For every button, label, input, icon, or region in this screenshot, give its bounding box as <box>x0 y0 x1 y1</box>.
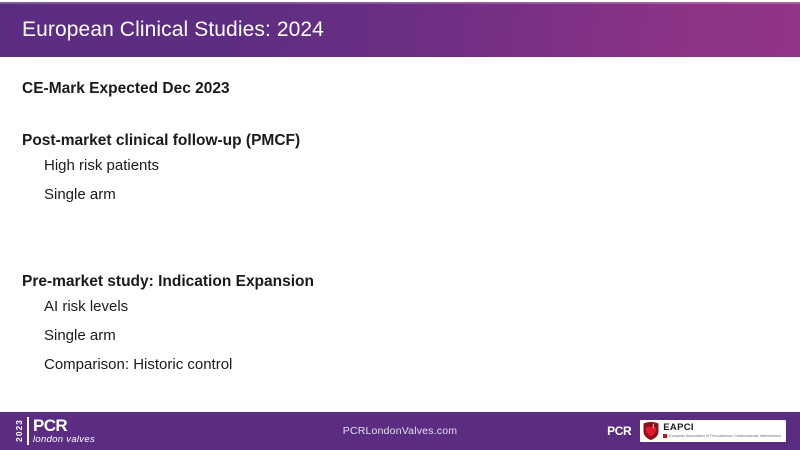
content-block-pmcf: Post-market clinical follow-up (PMCF) Hi… <box>0 131 760 209</box>
eapci-name: EAPCI <box>663 423 781 433</box>
heading-ce-mark: CE-Mark Expected Dec 2023 <box>22 79 760 99</box>
eapci-tagline: European Association of Percutaneous Car… <box>669 433 781 439</box>
list-item: Single arm <box>44 321 760 350</box>
eapci-square-icon <box>663 434 667 438</box>
heart-shield-icon <box>643 422 659 440</box>
slide-title-bar: European Clinical Studies: 2024 <box>0 2 800 57</box>
footer-partner-logos: PCR EAPCI European Association of Percut… <box>607 420 786 442</box>
eapci-tagline-row: European Association of Percutaneous Car… <box>663 433 781 439</box>
heading-pmcf: Post-market clinical follow-up (PMCF) <box>22 131 760 151</box>
slide-footer-bar: 2023 PCR london valves PCRLondonValves.c… <box>0 412 800 450</box>
list-item: High risk patients <box>44 151 760 180</box>
slide: European Clinical Studies: 2024 CE-Mark … <box>0 0 800 450</box>
content-block-pre-market: Pre-market study: Indication Expansion A… <box>0 272 760 379</box>
eapci-logo: EAPCI European Association of Percutaneo… <box>640 420 786 442</box>
list-item: Comparison: Historic control <box>44 350 760 379</box>
eapci-text-block: EAPCI European Association of Percutaneo… <box>663 423 781 439</box>
slide-content: CE-Mark Expected Dec 2023 Post-market cl… <box>0 57 800 412</box>
list-item: AI risk levels <box>44 292 760 321</box>
pcr-partner-logo: PCR <box>607 424 631 438</box>
page-title: European Clinical Studies: 2024 <box>22 18 324 42</box>
content-block-ce-mark: CE-Mark Expected Dec 2023 <box>0 79 760 99</box>
heading-pre-market: Pre-market study: Indication Expansion <box>22 272 760 292</box>
list-item: Single arm <box>44 180 760 209</box>
